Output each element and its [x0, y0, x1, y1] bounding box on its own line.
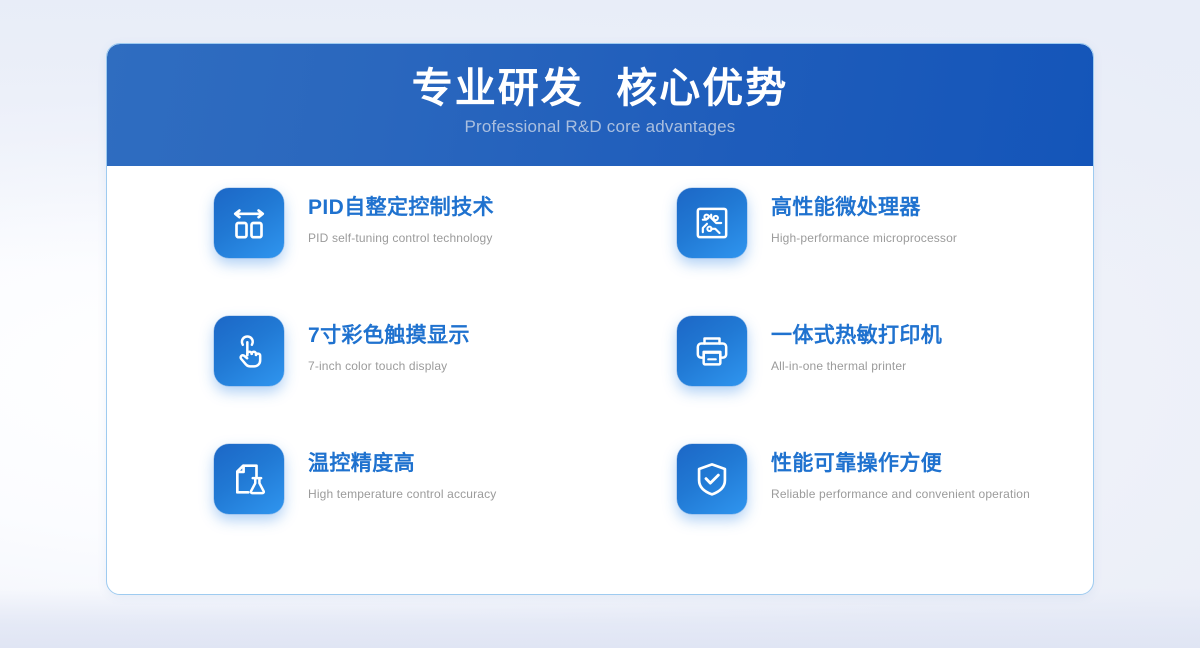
feature-text: PID自整定控制技术 PID self-tuning control techn…: [308, 188, 494, 245]
feature-description: All-in-one thermal printer: [771, 348, 942, 373]
feature-item-temperature-accuracy[interactable]: 温控精度高 High temperature control accuracy: [214, 444, 677, 572]
feature-text: 性能可靠操作方便 Reliable performance and conven…: [771, 444, 1030, 501]
page-title: 专业研发 核心优势: [107, 44, 1093, 113]
feature-description: High-performance microprocessor: [771, 220, 957, 245]
card-header: 专业研发 核心优势 Professional R&D core advantag…: [107, 44, 1093, 166]
feature-title: 7寸彩色触摸显示: [308, 323, 470, 348]
document-flask-icon: [214, 444, 284, 514]
feature-description: High temperature control accuracy: [308, 476, 496, 501]
touch-hand-icon: [214, 316, 284, 386]
feature-title: PID自整定控制技术: [308, 195, 494, 220]
printer-icon: [677, 316, 747, 386]
feature-title: 高性能微处理器: [771, 195, 957, 220]
feature-text: 高性能微处理器 High-performance microprocessor: [771, 188, 957, 245]
feature-text: 7寸彩色触摸显示 7-inch color touch display: [308, 316, 470, 373]
microchip-circuit-icon: [677, 188, 747, 258]
width-adjust-icon: [214, 188, 284, 258]
feature-item-microprocessor[interactable]: 高性能微处理器 High-performance microprocessor: [677, 188, 1093, 316]
feature-description: 7-inch color touch display: [308, 348, 470, 373]
feature-grid: PID自整定控制技术 PID self-tuning control techn…: [107, 166, 1093, 595]
feature-title: 性能可靠操作方便: [771, 451, 1030, 476]
feature-description: Reliable performance and convenient oper…: [771, 476, 1030, 501]
feature-item-printer[interactable]: 一体式热敏打印机 All-in-one thermal printer: [677, 316, 1093, 444]
feature-item-reliability[interactable]: 性能可靠操作方便 Reliable performance and conven…: [677, 444, 1093, 572]
feature-text: 温控精度高 High temperature control accuracy: [308, 444, 496, 501]
feature-title: 温控精度高: [308, 451, 496, 476]
feature-title: 一体式热敏打印机: [771, 323, 942, 348]
feature-item-touch-display[interactable]: 7寸彩色触摸显示 7-inch color touch display: [214, 316, 677, 444]
page-subtitle: Professional R&D core advantages: [107, 113, 1093, 137]
feature-item-pid[interactable]: PID自整定控制技术 PID self-tuning control techn…: [214, 188, 677, 316]
feature-description: PID self-tuning control technology: [308, 220, 494, 245]
advantages-card: 专业研发 核心优势 Professional R&D core advantag…: [106, 43, 1094, 595]
shield-check-icon: [677, 444, 747, 514]
feature-text: 一体式热敏打印机 All-in-one thermal printer: [771, 316, 942, 373]
